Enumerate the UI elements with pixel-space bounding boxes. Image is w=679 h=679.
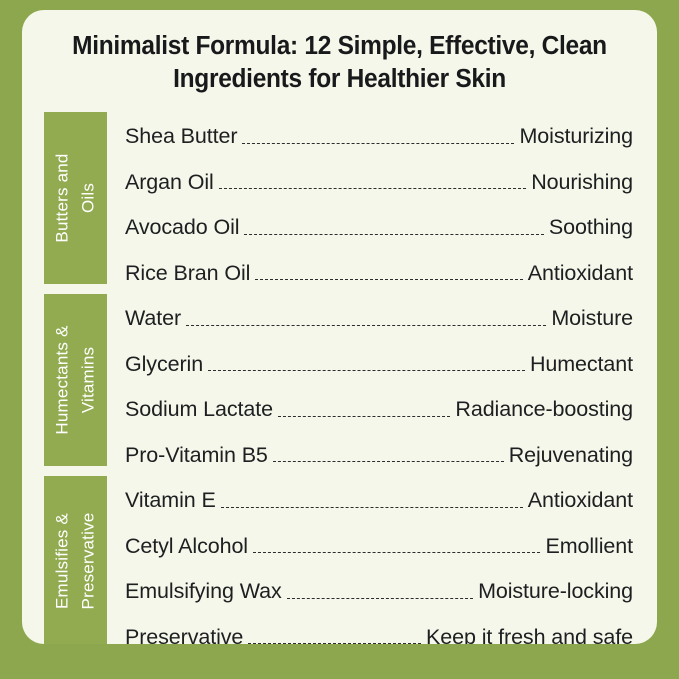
ingredient-row: Emulsifying Wax Moisture-locking — [125, 569, 633, 615]
ingredient-row: Preservative Keep it fresh and safe — [125, 615, 633, 645]
ingredient-row: Avocado Oil Soothing — [125, 205, 633, 251]
ingredient-benefit: Antioxidant — [528, 488, 633, 513]
ingredient-name: Avocado Oil — [125, 215, 239, 240]
leader-line — [248, 642, 421, 644]
leader-line — [242, 142, 514, 144]
ingredient-name: Shea Butter — [125, 124, 237, 149]
ingredient-name: Water — [125, 306, 181, 331]
category-label-line-1: Humectants & — [50, 325, 76, 434]
ingredient-name: Preservative — [125, 625, 243, 644]
ingredient-name: Emulsifying Wax — [125, 579, 282, 604]
ingredient-name: Argan Oil — [125, 170, 214, 195]
page-title-line-2: Ingredients for Healthier Skin — [48, 63, 631, 96]
ingredient-row: Argan Oil Nourishing — [125, 160, 633, 206]
ingredient-name: Glycerin — [125, 352, 203, 377]
leader-line — [208, 369, 525, 371]
leader-line — [255, 278, 522, 280]
category-label-line-1: Butters and — [50, 153, 76, 242]
ingredient-card: Minimalist Formula: 12 Simple, Effective… — [22, 10, 657, 644]
ingredient-benefit: Emollient — [545, 534, 633, 559]
leader-line — [278, 415, 450, 417]
category-block-emulsifies-and-preservative: Emulsifies & Preservative — [44, 476, 107, 644]
ingredient-benefit: Antioxidant — [528, 261, 633, 286]
leader-line — [273, 460, 504, 462]
ingredient-benefit: Rejuvenating — [509, 443, 633, 468]
leader-line — [219, 187, 526, 189]
category-label-line-2: Preservative — [76, 513, 102, 610]
leader-line — [253, 551, 540, 553]
ingredient-benefit: Keep it fresh and safe — [426, 625, 633, 644]
ingredient-benefit: Soothing — [549, 215, 633, 240]
ingredient-name: Pro-Vitamin B5 — [125, 443, 268, 468]
category-label-line-2: Oils — [76, 153, 102, 242]
ingredient-row: Water Moisture — [125, 296, 633, 342]
ingredient-list: Shea Butter Moisturizing Argan Oil Nouri… — [125, 114, 633, 644]
category-label: Humectants & Vitamins — [50, 325, 102, 434]
ingredient-benefit: Moisture — [551, 306, 633, 331]
ingredient-name: Rice Bran Oil — [125, 261, 250, 286]
ingredient-row: Pro-Vitamin B5 Rejuvenating — [125, 433, 633, 479]
poster-frame: Minimalist Formula: 12 Simple, Effective… — [0, 0, 679, 679]
ingredient-row: Cetyl Alcohol Emollient — [125, 524, 633, 570]
leader-line — [186, 324, 546, 326]
category-label-line-2: Vitamins — [76, 325, 102, 434]
category-column: Butters and Oils Humectants & Vitamins E… — [44, 112, 107, 640]
ingredient-name: Vitamin E — [125, 488, 216, 513]
ingredient-row: Glycerin Humectant — [125, 342, 633, 388]
category-label-line-1: Emulsifies & — [50, 513, 76, 610]
leader-line — [221, 506, 523, 508]
ingredient-name: Cetyl Alcohol — [125, 534, 248, 559]
category-label: Emulsifies & Preservative — [50, 513, 102, 610]
category-block-butters-and-oils: Butters and Oils — [44, 112, 107, 284]
ingredient-benefit: Moisturizing — [519, 124, 633, 149]
ingredient-benefit: Moisture-locking — [478, 579, 633, 604]
ingredient-benefit: Humectant — [530, 352, 633, 377]
leader-line — [287, 597, 473, 599]
page-title: Minimalist Formula: 12 Simple, Effective… — [48, 30, 631, 96]
ingredient-row: Rice Bran Oil Antioxidant — [125, 251, 633, 297]
ingredient-row: Sodium Lactate Radiance-boosting — [125, 387, 633, 433]
ingredient-benefit: Radiance-boosting — [455, 397, 633, 422]
ingredient-benefit: Nourishing — [531, 170, 633, 195]
ingredient-row: Shea Butter Moisturizing — [125, 114, 633, 160]
page-title-line-1: Minimalist Formula: 12 Simple, Effective… — [48, 30, 631, 63]
ingredient-name: Sodium Lactate — [125, 397, 273, 422]
ingredient-row: Vitamin E Antioxidant — [125, 478, 633, 524]
category-block-humectants-and-vitamins: Humectants & Vitamins — [44, 294, 107, 466]
category-label: Butters and Oils — [50, 153, 102, 242]
leader-line — [244, 233, 543, 235]
